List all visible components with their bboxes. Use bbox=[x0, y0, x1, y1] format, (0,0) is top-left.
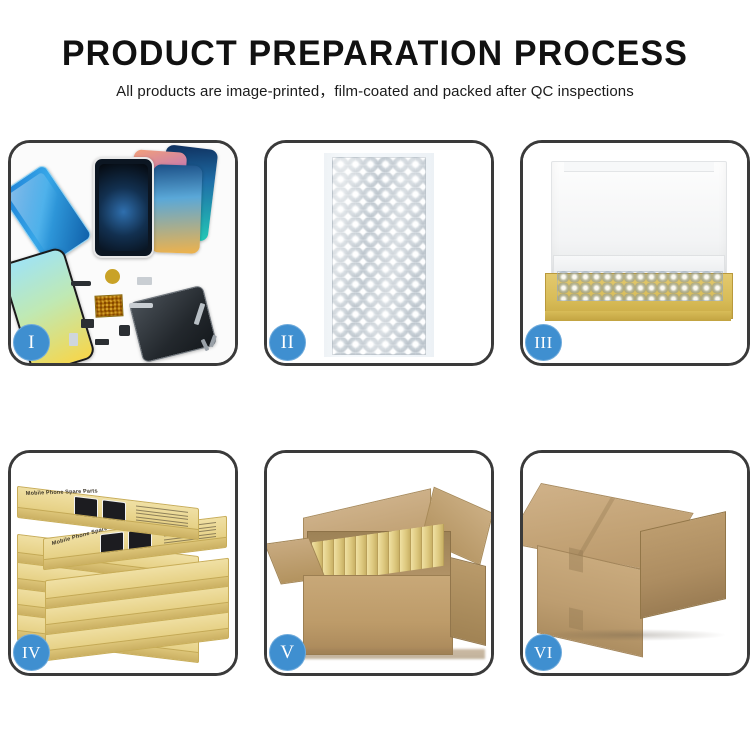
carton-side-panel-icon bbox=[450, 557, 486, 646]
step-numeral: VI bbox=[534, 643, 553, 662]
phone-black-screen-icon bbox=[93, 157, 154, 258]
step-badge-3: III bbox=[525, 324, 562, 361]
vibrator-part-icon bbox=[95, 339, 109, 345]
steps-grid: I II bbox=[8, 140, 742, 676]
carton-front-panel-icon bbox=[303, 575, 453, 655]
step-card-3[interactable]: III bbox=[520, 140, 750, 366]
page-subtitle: All products are image-printed，film-coat… bbox=[0, 74, 750, 101]
step-badge-1: I bbox=[13, 324, 50, 361]
step-numeral: V bbox=[280, 643, 294, 662]
carton-shadow bbox=[303, 649, 485, 659]
gold-coil-part-icon bbox=[105, 269, 120, 284]
speaker-part-icon bbox=[119, 325, 130, 336]
step-badge-5: V bbox=[269, 634, 306, 671]
bubble-wrap-icon bbox=[332, 157, 426, 355]
page-title: PRODUCT PREPARATION PROCESS bbox=[11, 0, 739, 74]
step-badge-6: VI bbox=[525, 634, 562, 671]
step-badge-4: IV bbox=[13, 634, 50, 671]
carton-shadow bbox=[539, 629, 725, 641]
step-card-1[interactable]: I bbox=[8, 140, 238, 366]
step-badge-2: II bbox=[269, 324, 306, 361]
header: PRODUCT PREPARATION PROCESS All products… bbox=[0, 0, 750, 101]
step-numeral: I bbox=[28, 333, 35, 352]
step-numeral: II bbox=[281, 333, 295, 352]
camera-module-part-icon bbox=[81, 319, 94, 328]
carton-tape-icon bbox=[569, 547, 583, 572]
phone-backplate-icon bbox=[129, 285, 218, 363]
step-card-6[interactable]: VI bbox=[520, 450, 750, 676]
phone-orange-icon bbox=[150, 164, 202, 254]
product-preparation-infographic: PRODUCT PREPARATION PROCESS All products… bbox=[0, 0, 750, 750]
flex-cable-part-icon bbox=[71, 281, 91, 286]
box-print-label: Mobile Phone Spare Parts bbox=[26, 488, 99, 497]
step-card-4[interactable]: Mobile Phone Spare Parts Mobile Phone Sp… bbox=[8, 450, 238, 676]
carton-tape-icon bbox=[569, 607, 583, 630]
bubble-wrapped-contents-icon bbox=[557, 271, 723, 301]
box-stack-icon: Mobile Phone Spare Parts Mobile Phone Sp… bbox=[17, 471, 235, 667]
connector-part-icon bbox=[137, 277, 152, 285]
step-numeral: IV bbox=[22, 643, 41, 662]
antenna-part-icon bbox=[129, 303, 153, 308]
step-numeral: III bbox=[534, 333, 552, 352]
logic-board-chip-icon bbox=[94, 294, 123, 317]
step-card-2[interactable]: II bbox=[264, 140, 494, 366]
sim-tray-part-icon bbox=[69, 333, 78, 346]
box-front-lip-icon bbox=[545, 311, 731, 321]
step-card-5[interactable]: V bbox=[264, 450, 494, 676]
carton-right-panel-icon bbox=[640, 511, 726, 619]
